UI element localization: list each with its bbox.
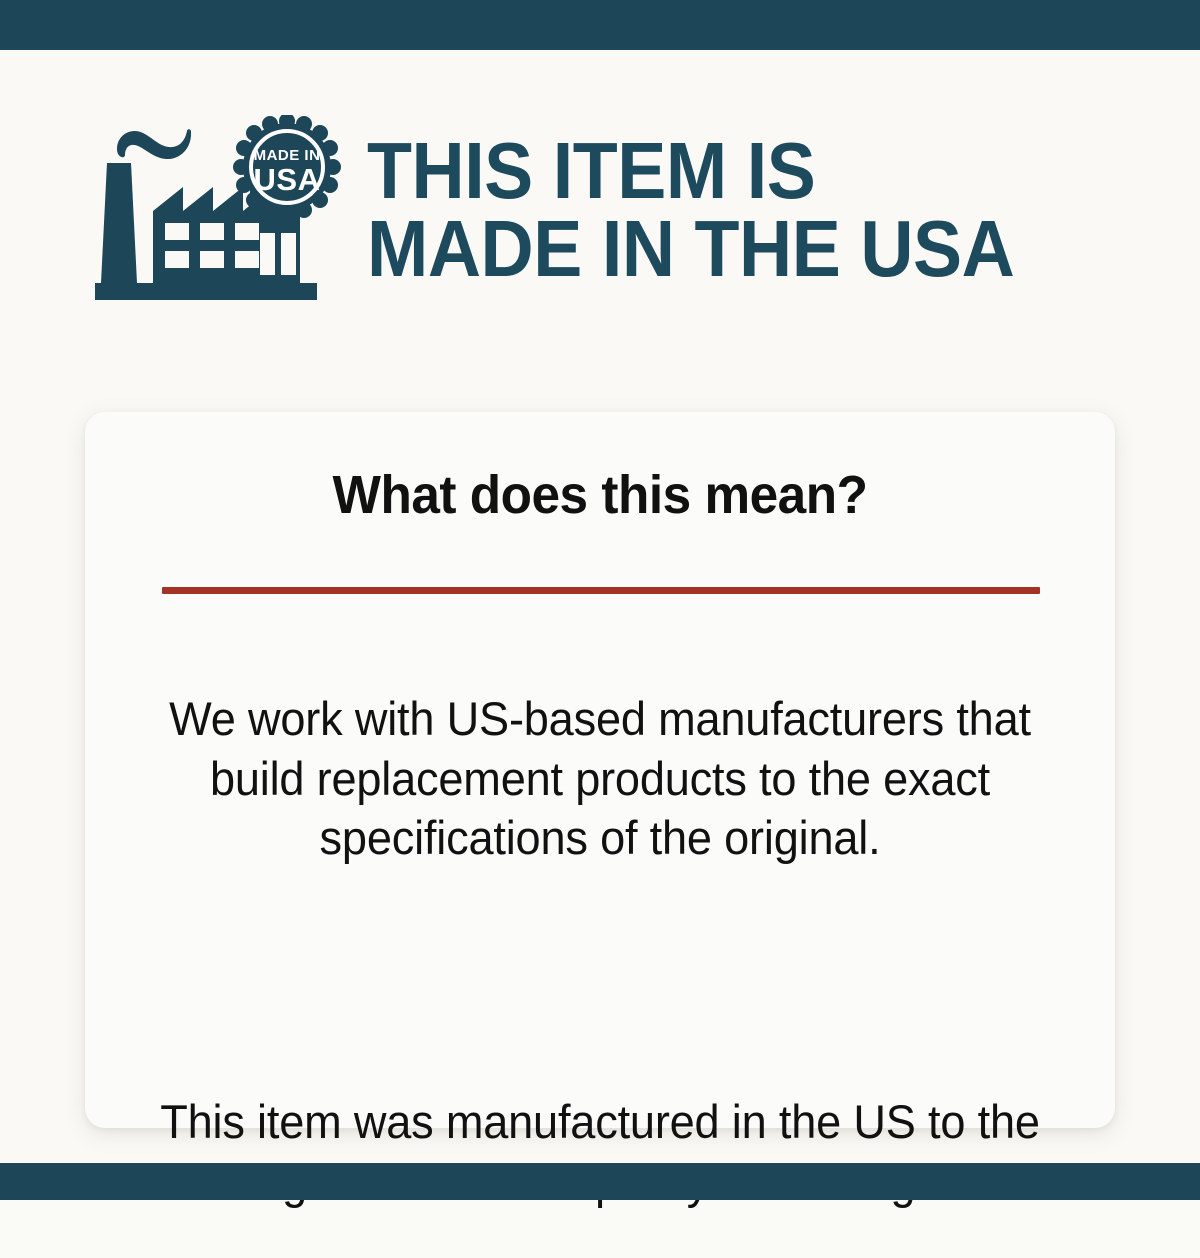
card-heading: What does this mean? [111,464,1090,526]
info-card: What does this mean? We work with US-bas… [85,412,1115,1128]
page-title: THIS ITEM IS MADE IN THE USA [367,132,1014,289]
page-title-line-2: MADE IN THE USA [367,210,1014,288]
top-brand-bar [0,0,1200,50]
bottom-brand-bar [0,1163,1200,1200]
page-title-line-1: THIS ITEM IS [367,132,1014,210]
header: MADE IN USA THIS ITEM IS MADE IN THE USA [0,95,1200,325]
heading-divider [162,587,1040,594]
factory-icon: MADE IN USA [95,115,345,305]
paragraph-spacer [133,915,1067,1045]
page-canvas: MADE IN USA THIS ITEM IS MADE IN THE USA… [0,50,1200,1163]
card-paragraph-1: We work with US-based manufacturers that… [152,689,1049,868]
badge-bottom-text: USA [254,162,321,197]
made-in-usa-badge: MADE IN USA [233,115,341,221]
